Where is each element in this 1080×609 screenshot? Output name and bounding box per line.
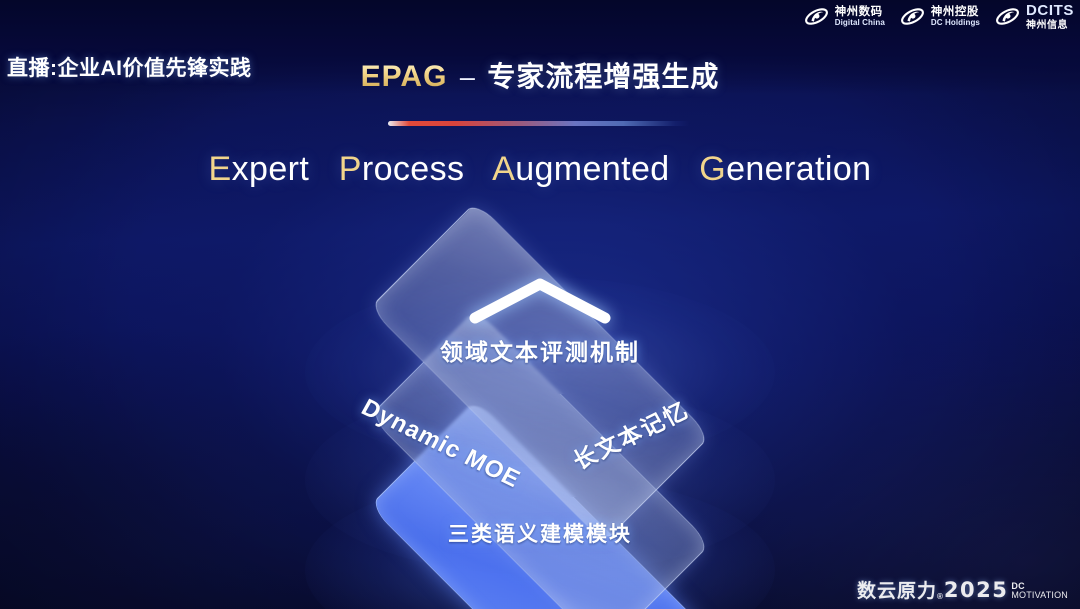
title-chinese: 专家流程增强生成 [487,61,719,92]
partner-name-cn: 神州数码 [835,6,885,19]
partner-logo-digital-china: 神州数码 Digital China [803,3,885,30]
brand-registered-mark: ® [937,593,944,601]
slide-canvas: 数云原力 ® 2025 DC MOTIVATION 直播:企业AI价值先锋实践 … [0,0,1080,609]
layer-stack-diagram: 领域文本评测机制 Dynamic MOE 长文本记忆 三类语义建模模块 [0,196,1080,596]
subtitle-word-generation: Generation [699,150,871,188]
brand-logo-watermark: 数云原力 ® 2025 DC MOTIVATION [857,580,1068,601]
swirl-logo-icon [994,3,1021,30]
partner-name-cn: 神州信息 [1026,20,1074,31]
subtitle-word-expert: Expert [209,150,310,188]
partner-logo-text: 神州控股 DC Holdings [931,6,980,28]
partner-logo-dc-holdings: 神州控股 DC Holdings [899,3,980,30]
top-layer-plate [369,201,711,543]
partner-name-en: Digital China [835,19,885,28]
swirl-logo-icon [803,3,830,30]
chevron-up-icon [465,274,615,326]
brand-dc-motivation: DC MOTIVATION [1011,582,1068,601]
title-acronym: EPAG [361,60,448,93]
brand-motivation-label: MOTIVATION [1011,591,1068,600]
partner-logo-text: 神州信息 DCITS [1026,3,1074,31]
subtitle-english: Expert Process Augmented Generation [0,150,1080,189]
top-layer-caption: 领域文本评测机制 [440,333,640,367]
partner-logo-dcits: 神州信息 DCITS [994,3,1074,31]
partner-name-en: DCITS [1026,3,1074,20]
partner-logo-text: 神州数码 Digital China [835,6,885,28]
brand-chinese-name: 数云原力 [857,582,937,601]
gradient-divider [388,121,690,126]
title-dash: – [460,62,475,92]
partner-logo-group: 神州数码 Digital China 神州控股 DC Holdings [803,3,1074,31]
subtitle-word-process: Process [339,150,465,188]
partner-name-en: DC Holdings [931,19,980,28]
swirl-logo-icon [899,3,926,30]
partner-name-cn: 神州控股 [931,6,980,19]
bottom-layer-caption: 三类语义建模模块 [448,518,632,548]
stack-layer-top [374,206,706,538]
brand-year: 2025 [944,580,1008,601]
subtitle-word-augmented: Augmented [492,150,670,188]
page-title: EPAG – 专家流程增强生成 [0,55,1080,95]
